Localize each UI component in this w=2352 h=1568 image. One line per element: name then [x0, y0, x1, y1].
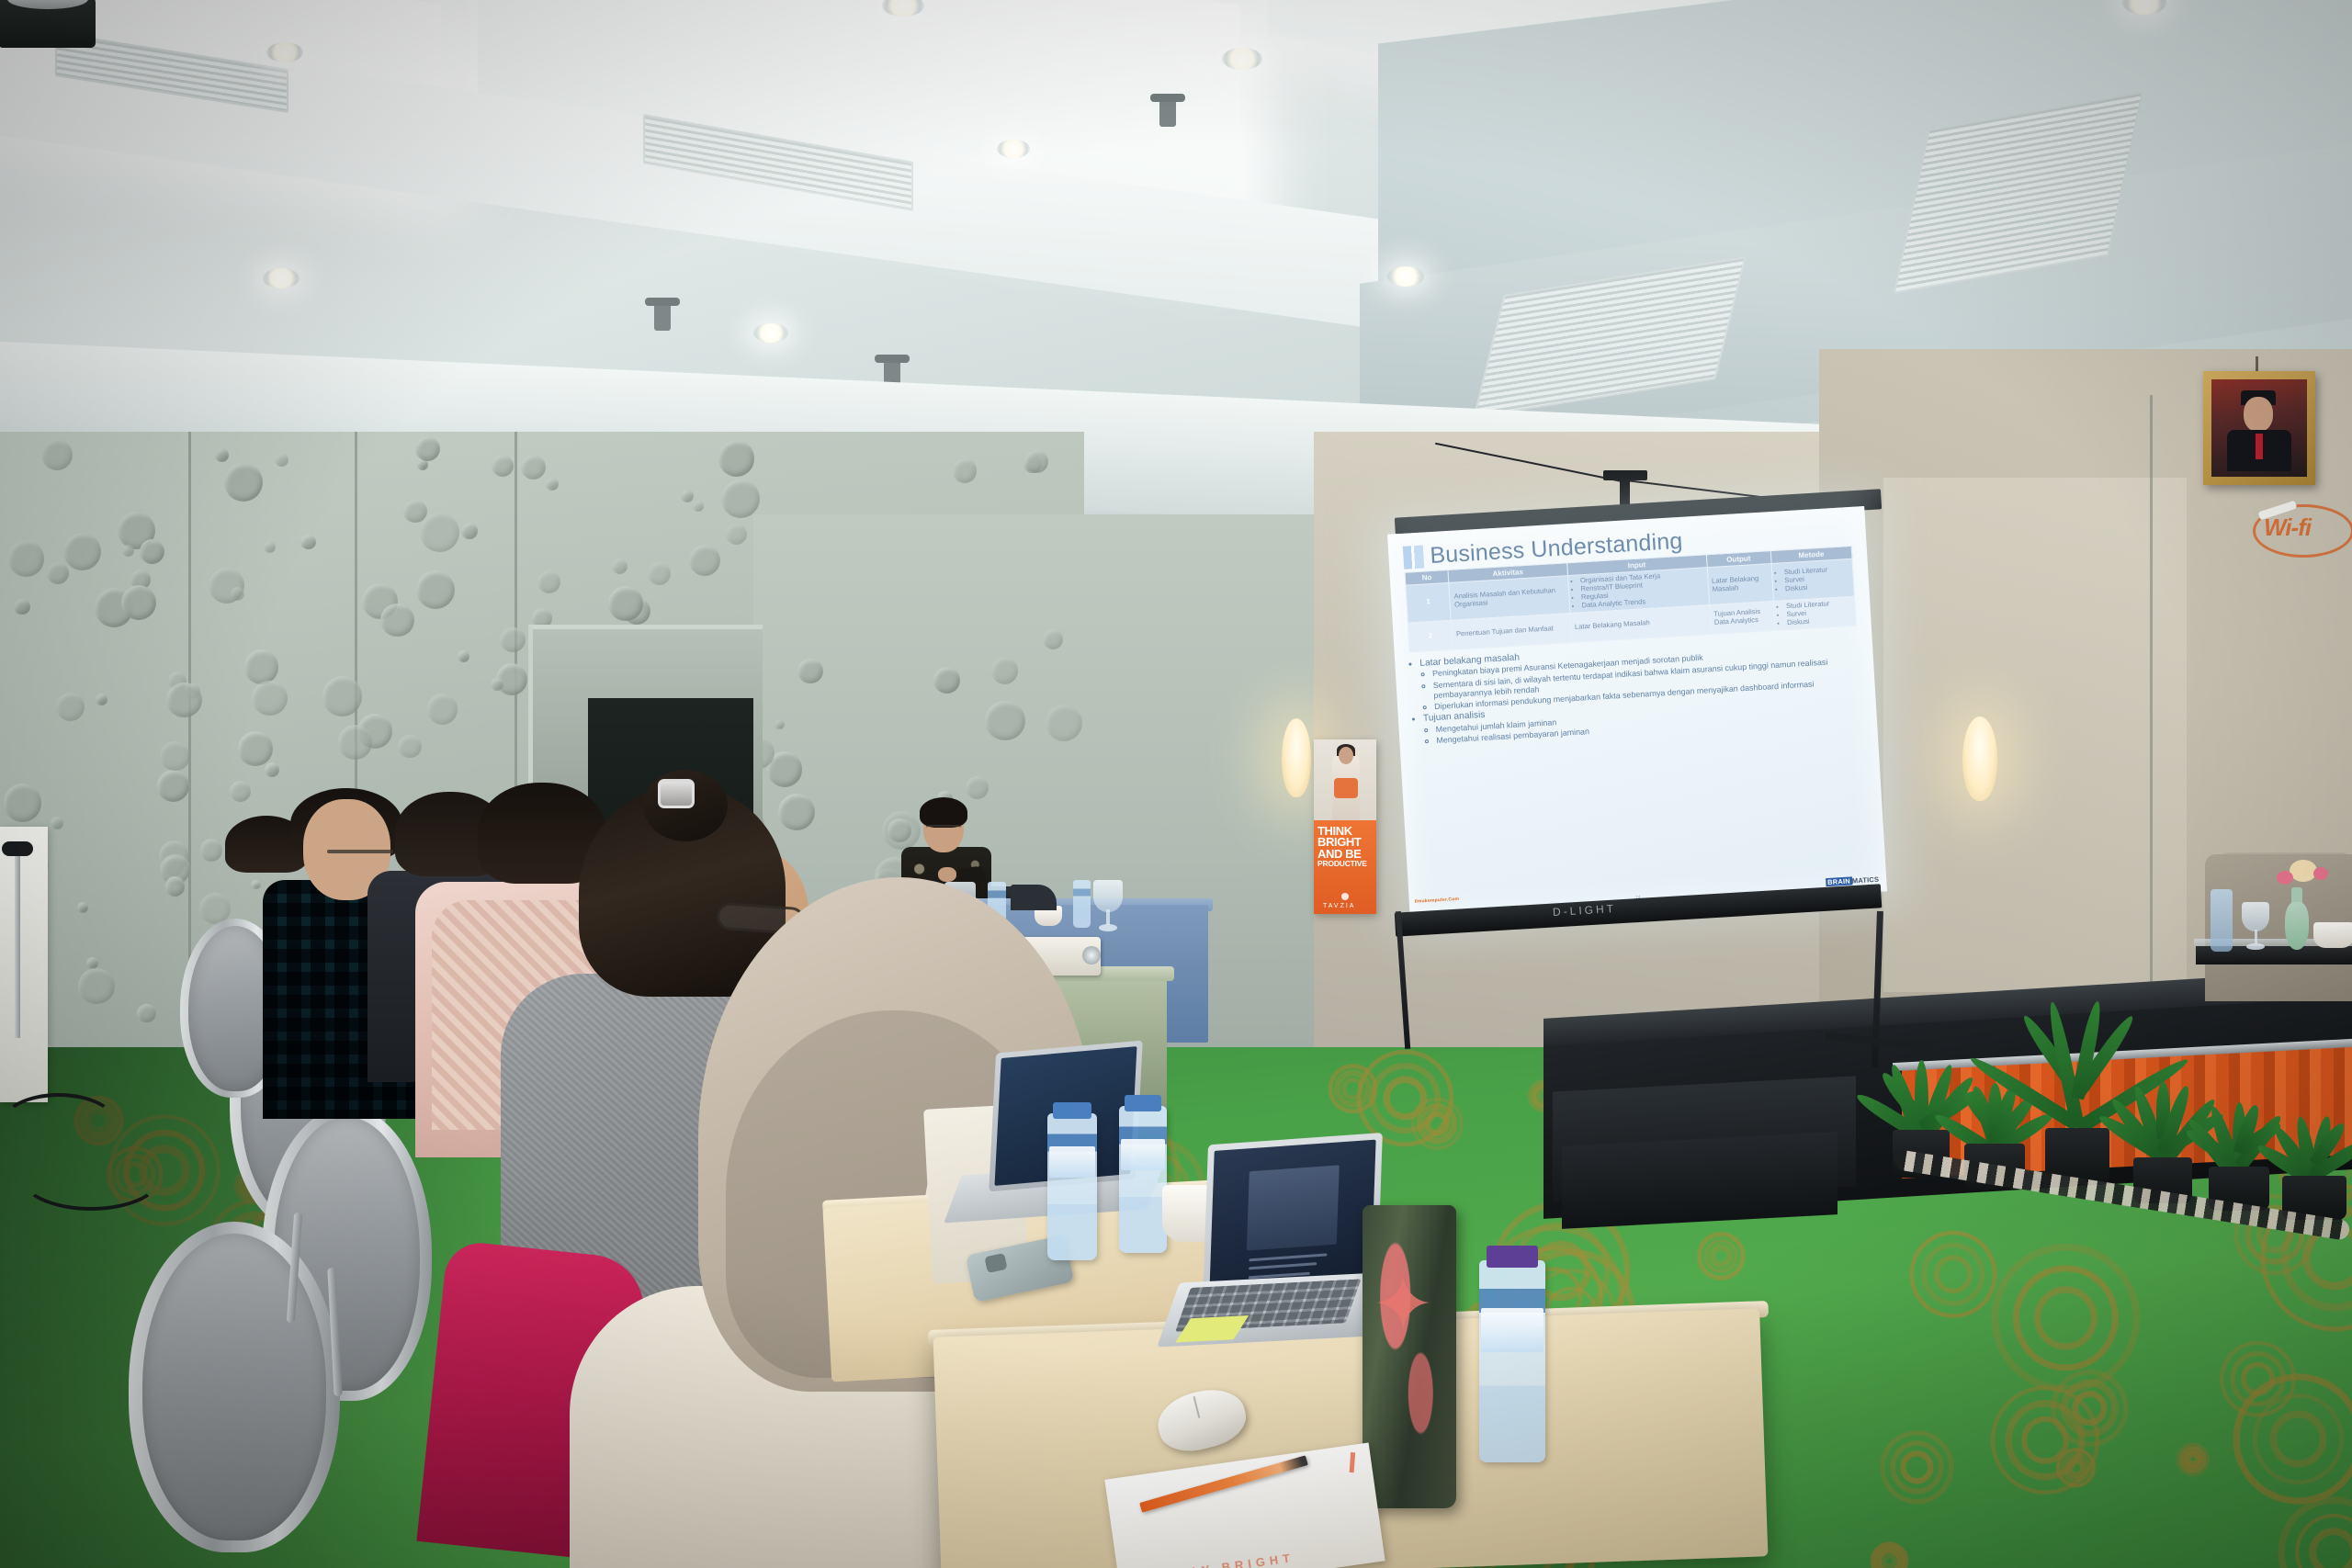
notepad-accent	[1350, 1452, 1356, 1472]
portrait-image	[2211, 379, 2307, 477]
flower-vase	[2285, 902, 2309, 950]
bottle-cap	[1053, 1102, 1091, 1119]
downlight-icon	[1387, 266, 1424, 287]
banner-photo	[1314, 739, 1376, 820]
banner-person-shirt	[1334, 778, 1358, 798]
banner-line-4: PRODUCTIVE	[1317, 860, 1376, 867]
banner-brand-name: TAVZIA	[1323, 903, 1355, 909]
water-bottle	[1073, 880, 1091, 928]
wall-sconce-icon	[1282, 718, 1311, 797]
wall-dot	[230, 781, 251, 802]
notepad-slogan: STAY BRIGHT	[1165, 1551, 1295, 1568]
wall-dot	[77, 902, 88, 913]
wall-dot	[416, 570, 455, 609]
mic-pole	[15, 854, 20, 1038]
projector-lens-icon	[1082, 946, 1101, 964]
wall-dot	[403, 500, 427, 524]
wall-dot	[380, 604, 414, 637]
right-wall-panel	[1883, 478, 2187, 992]
bottle-label	[1049, 1146, 1095, 1178]
tumbler-star-motif: ✦	[1372, 1277, 1442, 1347]
wall-dot	[238, 731, 273, 766]
wine-glass	[1093, 880, 1123, 931]
projected-slide: Business Understanding No Aktivitas Inpu…	[1387, 506, 1887, 919]
wall-dot	[966, 776, 989, 799]
hair-clip	[658, 779, 695, 808]
wall-dot	[537, 570, 560, 593]
wall-dot	[47, 562, 69, 584]
wall-dot	[991, 657, 1019, 684]
wifi-sign: Wi-fi	[2253, 501, 2352, 559]
wall-dot	[165, 876, 186, 897]
bottle-label	[1121, 1139, 1165, 1170]
cell-metode: Studi Literatur Survei Diskusi	[1771, 558, 1855, 601]
wall-dot	[953, 458, 977, 482]
wall-dot	[200, 839, 223, 862]
wall-dot	[8, 540, 44, 576]
water-bottle	[1479, 1260, 1545, 1462]
slide-accent-bar	[1403, 546, 1424, 570]
microphone-icon	[2, 841, 33, 856]
wall-dot	[166, 682, 202, 718]
wall-dot	[56, 693, 85, 721]
flower-bloom	[2277, 871, 2293, 885]
bottle-cap	[1487, 1246, 1538, 1268]
cell-aktivitas: Penentuan Tujuan dan Manfaat	[1452, 613, 1572, 649]
laptop-primary-screen	[1209, 1140, 1375, 1293]
banquet-chair[interactable]	[129, 1222, 340, 1562]
floral-tumbler: ✦	[1363, 1205, 1456, 1508]
portrait-face	[2244, 397, 2272, 432]
banner-text-panel: THINK BRIGHT AND BE PRODUCTIVE TAVZIA	[1314, 820, 1376, 914]
downlight-icon	[1222, 48, 1262, 70]
wall-dot	[1046, 705, 1082, 741]
wall-dot	[721, 479, 760, 518]
wall-dot	[264, 541, 276, 553]
wall-seam	[2150, 395, 2153, 1020]
wall-dot	[681, 490, 694, 502]
wall-dot	[160, 741, 189, 771]
wall-dot	[252, 681, 288, 716]
seminar-room-photo: Wi-fi	[0, 0, 2352, 1568]
rollup-banner: THINK BRIGHT AND BE PRODUCTIVE TAVZIA	[1314, 739, 1376, 914]
cell-output: Tujuan Analisis Data Analytics	[1709, 601, 1775, 634]
wall-dot	[689, 545, 720, 576]
wine-glass	[2242, 902, 2269, 950]
banner-slogan: THINK BRIGHT AND BE PRODUCTIVE	[1317, 826, 1376, 867]
downlight-icon	[997, 140, 1030, 158]
sprinkler-icon	[654, 303, 671, 331]
bottle-label	[1481, 1308, 1543, 1352]
sprinkler-icon	[1159, 99, 1176, 127]
wall-dot	[4, 784, 41, 821]
banner-person-head	[1339, 747, 1353, 764]
wall-dot	[461, 523, 478, 539]
wall-dot	[231, 587, 244, 601]
wall-dot	[300, 535, 316, 550]
wall-dot	[797, 659, 823, 684]
wifi-sign-label: Wi-fi	[2264, 513, 2311, 542]
wall-dot	[265, 762, 279, 777]
wall-dot	[398, 735, 421, 758]
microphone-stand	[0, 827, 37, 1038]
projection-screen: Business Understanding No Aktivitas Inpu…	[1378, 496, 1893, 955]
wall-dot	[78, 968, 115, 1005]
slide-watermark: Ilmukomputer.Com	[1415, 897, 1460, 905]
wall-dot	[137, 1004, 156, 1023]
wall-dot	[140, 539, 164, 564]
attendee-glasses	[327, 850, 393, 853]
wall-dot	[1024, 450, 1048, 474]
wall-dot	[521, 455, 546, 479]
wall-dot	[96, 694, 107, 705]
wall-dot	[224, 463, 263, 502]
water-bottle	[2211, 889, 2233, 952]
wall-dot	[275, 453, 288, 467]
wall-dot	[612, 558, 628, 574]
metode-item: Diskusi	[1785, 581, 1850, 593]
wall-dot	[778, 794, 815, 830]
bottle-cap	[1125, 1095, 1161, 1111]
cell-no: 2	[1408, 620, 1453, 652]
banner-brand-mark	[1341, 893, 1349, 900]
wall-dot	[63, 533, 101, 570]
wall-dot	[215, 448, 229, 462]
wall-dot	[322, 676, 363, 716]
chair-behind-table	[1011, 885, 1057, 910]
stage-step	[1562, 1132, 1837, 1229]
downlight-icon	[266, 42, 303, 62]
metode-item: Diskusi	[1787, 615, 1852, 627]
wall-dot	[726, 524, 747, 545]
water-bottle	[1047, 1113, 1097, 1260]
ceramic-bowl	[2313, 922, 2352, 948]
slide-bullet-list: Latar belakang masalah Peningkatan biaya…	[1409, 632, 1862, 747]
wall-dot	[14, 599, 29, 615]
wall-dot	[458, 650, 469, 662]
wall-dot	[985, 701, 1024, 740]
wall-dot	[157, 770, 189, 802]
wall-dot	[491, 678, 503, 691]
wall-dot	[693, 501, 704, 512]
presenter-hair	[920, 797, 967, 828]
wall-dot	[608, 586, 643, 621]
wall-sconce-icon	[1962, 716, 1997, 801]
wall-dot	[775, 719, 785, 729]
cell-no: 1	[1406, 582, 1452, 623]
wall-dot	[546, 478, 559, 491]
mouse-button-split	[1193, 1396, 1201, 1418]
water-bottle	[1119, 1106, 1167, 1253]
wall-dot	[251, 880, 261, 890]
wall-dot	[121, 585, 156, 620]
wall-dot	[415, 436, 440, 461]
slide-content: Business Understanding No Aktivitas Inpu…	[1387, 506, 1887, 919]
wall-dot	[1043, 629, 1063, 649]
framed-portrait	[2203, 371, 2315, 485]
presenter-hand	[938, 867, 956, 882]
wall-dot	[51, 817, 63, 829]
wall-dot	[427, 694, 458, 725]
portrait-tie	[2256, 434, 2263, 459]
wall-dot	[500, 627, 525, 652]
wall-dot	[933, 667, 960, 694]
floor-cable	[18, 1139, 164, 1211]
wall-dot	[718, 440, 754, 476]
wall-dot	[122, 545, 134, 557]
laptop-document-window	[1247, 1165, 1340, 1250]
wall-dot	[648, 562, 671, 585]
cell-output: Latar Belakang Masalah	[1707, 564, 1773, 605]
wall-dot	[420, 513, 459, 552]
wall-dot	[41, 439, 73, 471]
cell-metode: Studi Literatur Survei Diskusi	[1773, 596, 1856, 630]
wall-dot	[338, 725, 372, 759]
downlight-icon	[263, 268, 300, 288]
downlight-icon	[753, 323, 788, 343]
wall-dot	[244, 649, 278, 683]
flower-bloom	[2313, 867, 2328, 880]
presenter-glasses	[926, 825, 961, 834]
wall-dot	[492, 455, 514, 477]
